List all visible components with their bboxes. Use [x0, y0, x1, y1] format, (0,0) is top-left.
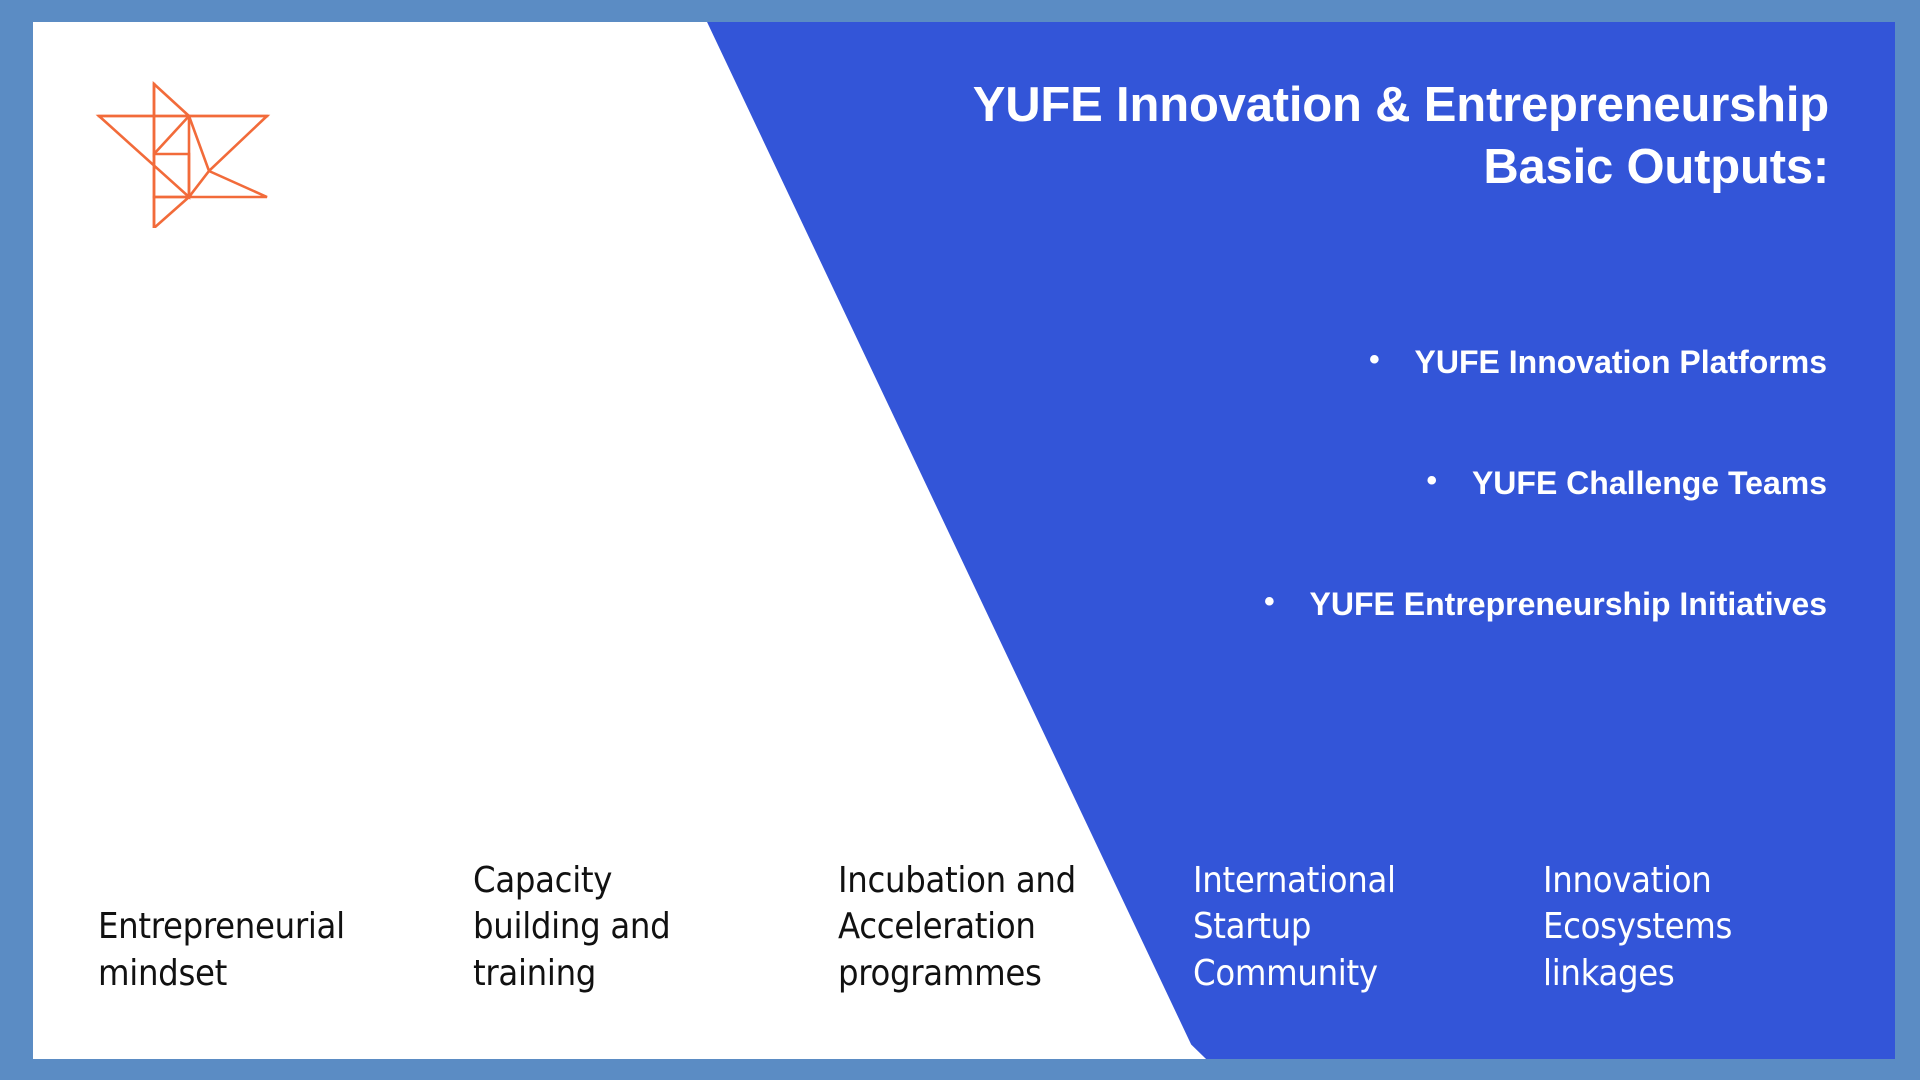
bullet-label: YUFE Entrepreneurship Initiatives	[1310, 586, 1827, 623]
pillar-label-innovation-ecosystems: Innovation Ecosystems linkages	[1543, 858, 1843, 998]
bullet-dot-icon: •	[1264, 587, 1275, 617]
logo-shape-right-triangle	[189, 116, 267, 171]
logo-shape-bottom-triangle	[154, 197, 189, 228]
list-item: • YUFE Entrepreneurship Initiatives	[649, 584, 1829, 623]
logo-shape-left-triangle	[99, 116, 189, 197]
pillar-label-entrepreneurial-mindset: Entrepreneurial mindset	[98, 904, 428, 998]
page-title-line-1: YUFE Innovation & Entrepreneurship	[709, 74, 1829, 136]
bullet-dot-icon: •	[1427, 466, 1438, 496]
page-title: YUFE Innovation & Entrepreneurship Basic…	[709, 74, 1829, 198]
pillar-label-capacity-building: Capacity building and training	[473, 858, 793, 998]
pillar-label-row: Entrepreneurial mindset Capacity buildin…	[33, 738, 1895, 998]
list-item: • YUFE Challenge Teams	[649, 463, 1829, 502]
slide-canvas: YUFE Innovation & Entrepreneurship Basic…	[33, 22, 1895, 1059]
yufe-logo	[93, 78, 273, 228]
bullet-label: YUFE Challenge Teams	[1472, 465, 1827, 502]
slide-frame: YUFE Innovation & Entrepreneurship Basic…	[0, 0, 1920, 1080]
logo-shape-upper-triangle	[154, 84, 189, 154]
page-title-line-2: Basic Outputs:	[709, 136, 1829, 198]
outputs-bullet-list: • YUFE Innovation Platforms • YUFE Chall…	[649, 342, 1829, 705]
logo-shape-right-lower-triangle	[189, 171, 267, 197]
bullet-label: YUFE Innovation Platforms	[1415, 344, 1827, 381]
list-item: • YUFE Innovation Platforms	[649, 342, 1829, 381]
pillar-label-international-startup: International Startup Community	[1193, 858, 1493, 998]
bullet-dot-icon: •	[1369, 345, 1380, 375]
pillar-label-incubation-acceleration: Incubation and Acceleration programmes	[838, 858, 1168, 998]
